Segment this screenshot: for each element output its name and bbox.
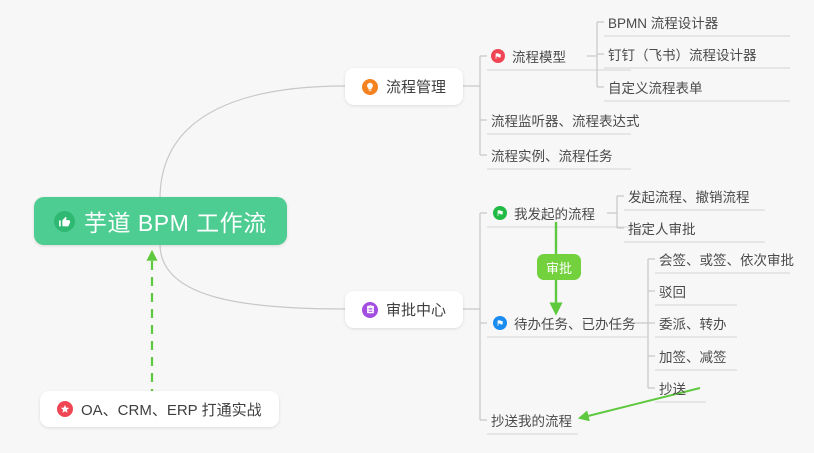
node-dingtalk-designer[interactable]: 钉钉（飞书）流程设计器 <box>606 39 763 69</box>
node-process-listener[interactable]: 流程监听器、流程表达式 <box>489 105 646 135</box>
clipboard-icon <box>362 302 378 318</box>
mindmap-canvas: 芋道 BPM 工作流 流程管理 审批中心 流程模型 流程监听器、流程表达式 流程 <box>0 0 814 453</box>
branch-approval-center[interactable]: 审批中心 <box>345 291 463 328</box>
branch-process-management-label: 流程管理 <box>386 76 446 97</box>
node-bpmn-designer[interactable]: BPMN 流程设计器 <box>606 7 724 37</box>
node-reject-label: 驳回 <box>659 281 686 301</box>
node-delegate-transfer-label: 委派、转办 <box>659 313 727 333</box>
root-node[interactable]: 芋道 BPM 工作流 <box>34 197 287 245</box>
node-process-instance[interactable]: 流程实例、流程任务 <box>489 140 619 170</box>
node-process-model-label: 流程模型 <box>512 46 566 66</box>
flag-icon <box>493 316 507 330</box>
approval-flow-tag-label: 审批 <box>546 258 572 277</box>
node-carbon-copy-label: 抄送 <box>659 378 686 398</box>
node-bpmn-designer-label: BPMN 流程设计器 <box>608 12 718 32</box>
node-add-remove-sign[interactable]: 加签、减签 <box>657 341 733 371</box>
node-process-instance-label: 流程实例、流程任务 <box>491 145 613 165</box>
flag-icon <box>493 206 507 220</box>
node-countersign-label: 会签、或签、依次审批 <box>659 249 794 269</box>
branch-approval-center-label: 审批中心 <box>386 299 446 320</box>
node-add-remove-sign-label: 加签、减签 <box>659 346 727 366</box>
node-carbon-copy[interactable]: 抄送 <box>657 373 692 403</box>
node-todo-done-task-label: 待办任务、已办任务 <box>514 313 636 333</box>
node-process-listener-label: 流程监听器、流程表达式 <box>491 110 640 130</box>
node-assignee-approval-label: 指定人审批 <box>628 218 696 238</box>
node-start-cancel-process-label: 发起流程、撤销流程 <box>628 186 750 206</box>
lightbulb-icon <box>362 79 378 95</box>
edge-root-to-process-management <box>160 86 345 199</box>
node-custom-process-form-label: 自定义流程表单 <box>608 77 703 97</box>
node-dingtalk-designer-label: 钉钉（飞书）流程设计器 <box>608 44 757 64</box>
flag-icon <box>491 49 505 63</box>
star-icon <box>57 401 73 417</box>
node-my-started-process[interactable]: 我发起的流程 <box>491 198 601 228</box>
node-process-model[interactable]: 流程模型 <box>489 41 572 71</box>
branch-process-management[interactable]: 流程管理 <box>345 68 463 105</box>
approval-flow-tag: 审批 <box>537 254 581 280</box>
node-delegate-transfer[interactable]: 委派、转办 <box>657 308 733 338</box>
node-cc-to-me-process-label: 抄送我的流程 <box>491 410 572 430</box>
bottom-note[interactable]: OA、CRM、ERP 打通实战 <box>40 391 279 427</box>
node-todo-done-task[interactable]: 待办任务、已办任务 <box>491 308 642 338</box>
thumbs-up-icon <box>54 211 75 232</box>
node-custom-process-form[interactable]: 自定义流程表单 <box>606 72 709 102</box>
node-cc-to-me-process[interactable]: 抄送我的流程 <box>489 405 578 435</box>
bottom-note-label: OA、CRM、ERP 打通实战 <box>81 399 262 420</box>
edge-root-to-approval-center <box>160 244 345 309</box>
node-reject[interactable]: 驳回 <box>657 276 692 306</box>
node-my-started-process-label: 我发起的流程 <box>514 203 595 223</box>
root-label: 芋道 BPM 工作流 <box>84 204 267 238</box>
node-assignee-approval[interactable]: 指定人审批 <box>626 213 702 243</box>
node-start-cancel-process[interactable]: 发起流程、撤销流程 <box>626 181 756 211</box>
node-countersign[interactable]: 会签、或签、依次审批 <box>657 244 800 274</box>
